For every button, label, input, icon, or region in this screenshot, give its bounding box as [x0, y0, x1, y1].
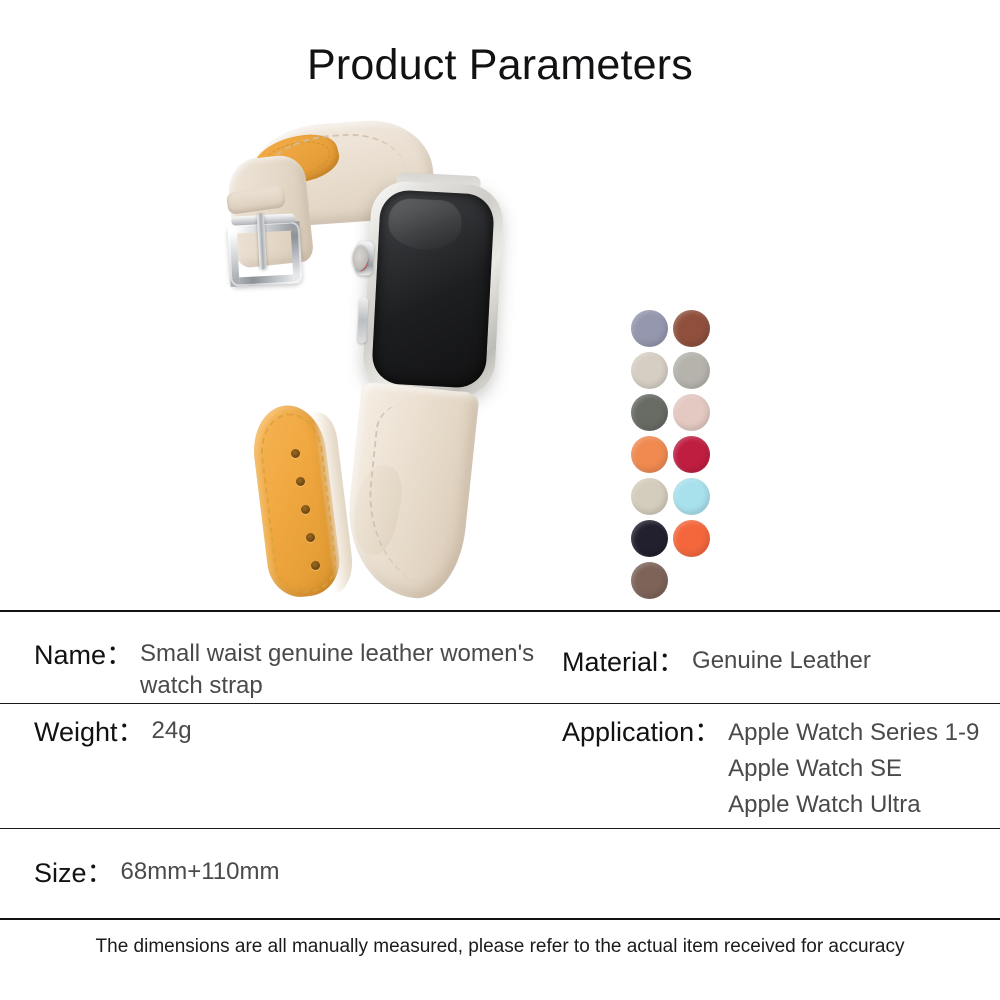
table-rule-top: [0, 610, 1000, 612]
buckle-hole: [301, 505, 310, 514]
buckle-hole: [306, 533, 315, 542]
color-swatch-stone-beige[interactable]: [631, 478, 668, 515]
color-swatch-sky-blue[interactable]: [673, 478, 710, 515]
spec-value-name: Small waist genuine leather women's watc…: [140, 638, 554, 702]
spec-cell-size: Size： 68mm+110mm: [34, 856, 534, 891]
color-swatch-light-beige[interactable]: [631, 352, 668, 389]
buckle-hole: [291, 449, 300, 458]
buckle-hole: [296, 477, 305, 486]
spec-cell-material: Material： Genuine Leather: [562, 645, 982, 680]
spec-cell-weight: Weight： 24g: [34, 715, 534, 750]
product-parameters-page: Product Parameters: [0, 0, 1000, 1000]
product-hero-image: [0, 100, 1000, 600]
color-swatch-midnight-navy[interactable]: [631, 520, 668, 557]
table-rule-1: [0, 703, 1000, 704]
buckle-hole: [311, 561, 320, 570]
color-swatch-grid[interactable]: [625, 310, 725, 600]
spec-label-size: Size：: [34, 856, 114, 891]
spec-cell-application: Application： Apple Watch Series 1-9 Appl…: [562, 715, 982, 823]
spec-label-material: Material：: [562, 645, 685, 680]
page-title: Product Parameters: [0, 44, 1000, 87]
measurement-disclaimer: The dimensions are all manually measured…: [0, 936, 1000, 958]
color-swatch-orange[interactable]: [631, 436, 668, 473]
color-swatch-blush-pink[interactable]: [673, 394, 710, 431]
watch-strap-illustration: [205, 105, 595, 605]
spec-label-weight: Weight：: [34, 715, 145, 750]
color-swatch-brown[interactable]: [673, 310, 710, 347]
spec-label-name: Name：: [34, 638, 133, 673]
apple-watch-case: [362, 180, 505, 399]
watch-screen: [371, 189, 495, 389]
color-swatch-taupe-brown[interactable]: [631, 562, 668, 599]
color-swatch-dark-olive-grey[interactable]: [631, 394, 668, 431]
color-swatch-lavender-grey[interactable]: [631, 310, 668, 347]
color-swatch-warm-grey[interactable]: [673, 352, 710, 389]
table-rule-2: [0, 828, 1000, 829]
spec-value-application: Apple Watch Series 1-9 Apple Watch SE Ap…: [728, 715, 979, 823]
spec-label-application: Application：: [562, 715, 721, 750]
color-swatch-coral-orange[interactable]: [673, 520, 710, 557]
spec-value-material: Genuine Leather: [692, 645, 871, 677]
spec-cell-name: Name： Small waist genuine leather women'…: [34, 638, 554, 702]
color-swatch-crimson-red[interactable]: [673, 436, 710, 473]
spec-value-size: 68mm+110mm: [121, 856, 280, 888]
buckle: [227, 221, 302, 287]
spec-value-weight: 24g: [152, 715, 192, 747]
table-rule-bottom: [0, 918, 1000, 920]
